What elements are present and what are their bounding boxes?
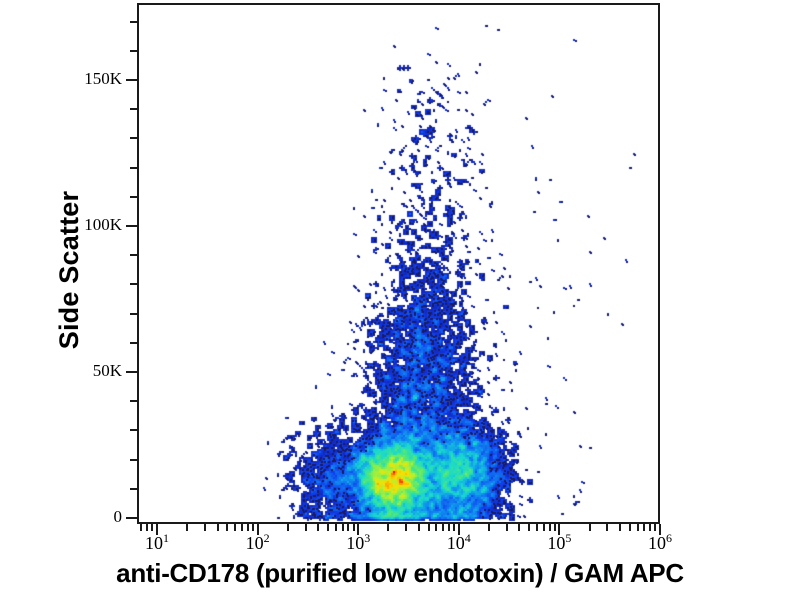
x-tick-minor bbox=[643, 524, 645, 531]
x-tick-minor bbox=[353, 524, 355, 531]
y-tick-minor bbox=[130, 283, 137, 285]
y-tick-minor bbox=[130, 429, 137, 431]
x-tick-minor bbox=[327, 524, 329, 531]
x-tick-minor bbox=[287, 524, 289, 531]
x-tick-minor bbox=[654, 524, 656, 531]
y-tick-minor bbox=[130, 342, 137, 344]
x-tick-label: 102 bbox=[246, 533, 270, 554]
x-tick-minor bbox=[347, 524, 349, 531]
x-tick-minor bbox=[428, 524, 430, 531]
x-tick-minor bbox=[649, 524, 651, 531]
x-tick-minor bbox=[418, 524, 420, 531]
x-tick-minor bbox=[186, 524, 188, 531]
y-tick-minor bbox=[130, 167, 137, 169]
x-tick-minor bbox=[488, 524, 490, 531]
y-tick-minor bbox=[130, 21, 137, 23]
y-tick-major bbox=[126, 517, 137, 519]
x-axis-title: anti-CD178 (purified low endotoxin) / GA… bbox=[0, 558, 800, 589]
x-tick-label: 103 bbox=[346, 533, 370, 554]
x-tick-label: 105 bbox=[547, 533, 571, 554]
y-tick-minor bbox=[130, 196, 137, 198]
x-tick-minor bbox=[146, 524, 148, 531]
y-axis-tick-labels: 050K100K150K bbox=[50, 0, 122, 540]
y-tick-major bbox=[126, 79, 137, 81]
x-tick-minor bbox=[536, 524, 538, 531]
x-tick-minor bbox=[342, 524, 344, 531]
x-tick-minor bbox=[549, 524, 551, 531]
x-tick-minor bbox=[217, 524, 219, 531]
x-tick-minor bbox=[317, 524, 319, 531]
x-tick-minor bbox=[387, 524, 389, 531]
x-tick-minor bbox=[204, 524, 206, 531]
scatter-plot-area[interactable] bbox=[137, 3, 660, 524]
density-scatter-canvas bbox=[139, 5, 660, 524]
y-tick-minor bbox=[130, 488, 137, 490]
x-tick-minor bbox=[442, 524, 444, 531]
x-tick-minor bbox=[435, 524, 437, 531]
x-tick-minor bbox=[140, 524, 142, 531]
x-tick-minor bbox=[252, 524, 254, 531]
x-tick-minor bbox=[637, 524, 639, 531]
y-tick-major bbox=[126, 225, 137, 227]
y-tick-minor bbox=[130, 108, 137, 110]
x-tick-minor bbox=[543, 524, 545, 531]
flow-cytometry-figure: Side Scatter 050K100K150K 10110210310410… bbox=[0, 0, 800, 600]
x-tick-minor bbox=[305, 524, 307, 531]
y-tick-minor bbox=[130, 254, 137, 256]
x-tick-minor bbox=[335, 524, 337, 531]
x-tick-minor bbox=[518, 524, 520, 531]
x-tick-minor bbox=[241, 524, 243, 531]
x-tick-minor bbox=[234, 524, 236, 531]
x-tick-minor bbox=[453, 524, 455, 531]
x-tick-minor bbox=[448, 524, 450, 531]
y-tick-label: 0 bbox=[58, 507, 122, 527]
y-tick-minor bbox=[130, 313, 137, 315]
y-tick-label: 50K bbox=[58, 361, 122, 381]
x-tick-minor bbox=[629, 524, 631, 531]
x-tick-minor bbox=[606, 524, 608, 531]
x-tick-minor bbox=[247, 524, 249, 531]
y-tick-minor bbox=[130, 50, 137, 52]
x-tick-minor bbox=[405, 524, 407, 531]
x-tick-minor bbox=[619, 524, 621, 531]
y-tick-minor bbox=[130, 400, 137, 402]
y-tick-minor bbox=[130, 459, 137, 461]
x-tick-minor bbox=[151, 524, 153, 531]
x-tick-label: 101 bbox=[145, 533, 169, 554]
x-tick-minor bbox=[506, 524, 508, 531]
x-tick-label: 104 bbox=[447, 533, 471, 554]
y-tick-label: 150K bbox=[58, 69, 122, 89]
y-tick-label: 100K bbox=[58, 215, 122, 235]
y-tick-minor bbox=[130, 137, 137, 139]
x-tick-minor bbox=[554, 524, 556, 531]
x-tick-label: 106 bbox=[648, 533, 672, 554]
x-tick-minor bbox=[589, 524, 591, 531]
x-tick-minor bbox=[528, 524, 530, 531]
y-tick-major bbox=[126, 371, 137, 373]
x-tick-minor bbox=[226, 524, 228, 531]
